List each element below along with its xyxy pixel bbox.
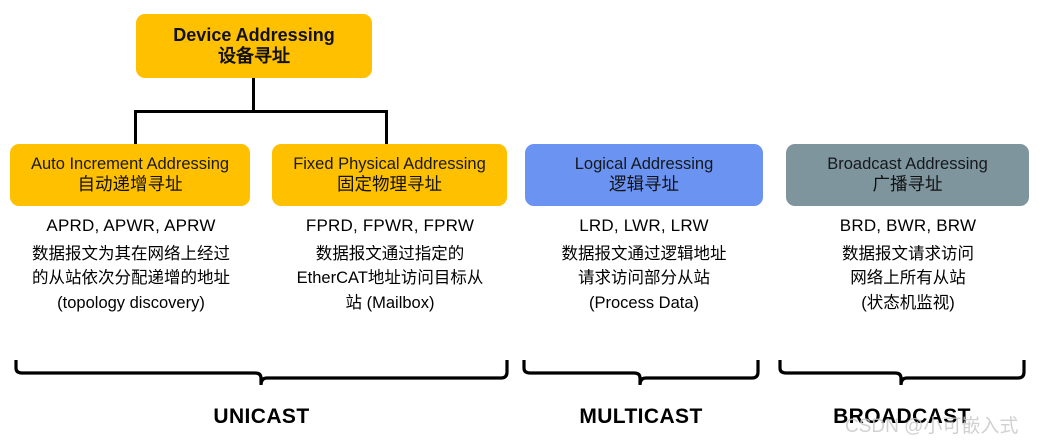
brace-icon: [777, 358, 1027, 388]
command-list: BRD, BWR, BRW: [786, 216, 1030, 236]
connector-horizontal-bar: [134, 110, 388, 113]
description-line: (Process Data): [524, 291, 764, 315]
connector-branch-left: [134, 110, 137, 144]
category-box-broadcast-addressing: Broadcast Addressing 广播寻址: [786, 144, 1029, 206]
category-title-en: Auto Increment Addressing: [31, 155, 229, 175]
description-broadcast-addressing: BRD, BWR, BRW 数据报文请求访问 网络上所有从站 (状态机监视): [786, 216, 1030, 315]
description-logical-addressing: LRD, LWR, LRW 数据报文通过逻辑地址 请求访问部分从站 (Proce…: [524, 216, 764, 315]
brace-broadcast: [777, 358, 1027, 388]
category-title-en: Logical Addressing: [575, 155, 714, 175]
category-title-zh: 固定物理寻址: [337, 174, 442, 195]
description-line: EtherCAT地址访问目标从: [266, 266, 514, 290]
group-label-unicast: UNICAST: [13, 405, 510, 429]
connector-branch-right: [385, 110, 388, 144]
connector-trunk-vertical: [252, 78, 255, 112]
category-title-en: Fixed Physical Addressing: [293, 155, 486, 175]
description-fixed-physical-addressing: FPRD, FPWR, FPRW 数据报文通过指定的 EtherCAT地址访问目…: [266, 216, 514, 315]
category-box-fixed-physical-addressing: Fixed Physical Addressing 固定物理寻址: [272, 144, 507, 206]
category-box-auto-increment-addressing: Auto Increment Addressing 自动递增寻址: [10, 144, 250, 206]
description-auto-increment-addressing: APRD, APWR, APRW 数据报文为其在网络上经过 的从站依次分配递增的…: [6, 216, 256, 315]
description-line: 数据报文请求访问: [786, 242, 1030, 266]
command-list: FPRD, FPWR, FPRW: [266, 216, 514, 236]
brace-multicast: [521, 358, 761, 388]
description-line: 站 (Mailbox): [266, 291, 514, 315]
category-title-zh: 逻辑寻址: [609, 174, 679, 195]
description-line: 数据报文通过逻辑地址: [524, 242, 764, 266]
root-node-device-addressing: Device Addressing 设备寻址: [136, 14, 372, 78]
command-list: APRD, APWR, APRW: [6, 216, 256, 236]
root-node-title-en: Device Addressing: [173, 25, 334, 46]
category-title-zh: 广播寻址: [873, 174, 943, 195]
description-line: 请求访问部分从站: [524, 266, 764, 290]
group-label-broadcast: BROADCAST: [777, 405, 1027, 429]
description-line: 网络上所有从站: [786, 266, 1030, 290]
description-line: (topology discovery): [6, 291, 256, 315]
group-label-multicast: MULTICAST: [521, 405, 761, 429]
description-line: 数据报文通过指定的: [266, 242, 514, 266]
category-title-zh: 自动递增寻址: [78, 174, 183, 195]
description-line: (状态机监视): [786, 291, 1030, 315]
brace-icon: [521, 358, 761, 388]
brace-icon: [13, 358, 510, 388]
command-list: LRD, LWR, LRW: [524, 216, 764, 236]
brace-unicast: [13, 358, 510, 388]
description-line: 的从站依次分配递增的地址: [6, 266, 256, 290]
category-title-en: Broadcast Addressing: [827, 155, 988, 175]
description-line: 数据报文为其在网络上经过: [6, 242, 256, 266]
root-node-title-zh: 设备寻址: [218, 46, 290, 67]
category-box-logical-addressing: Logical Addressing 逻辑寻址: [525, 144, 763, 206]
